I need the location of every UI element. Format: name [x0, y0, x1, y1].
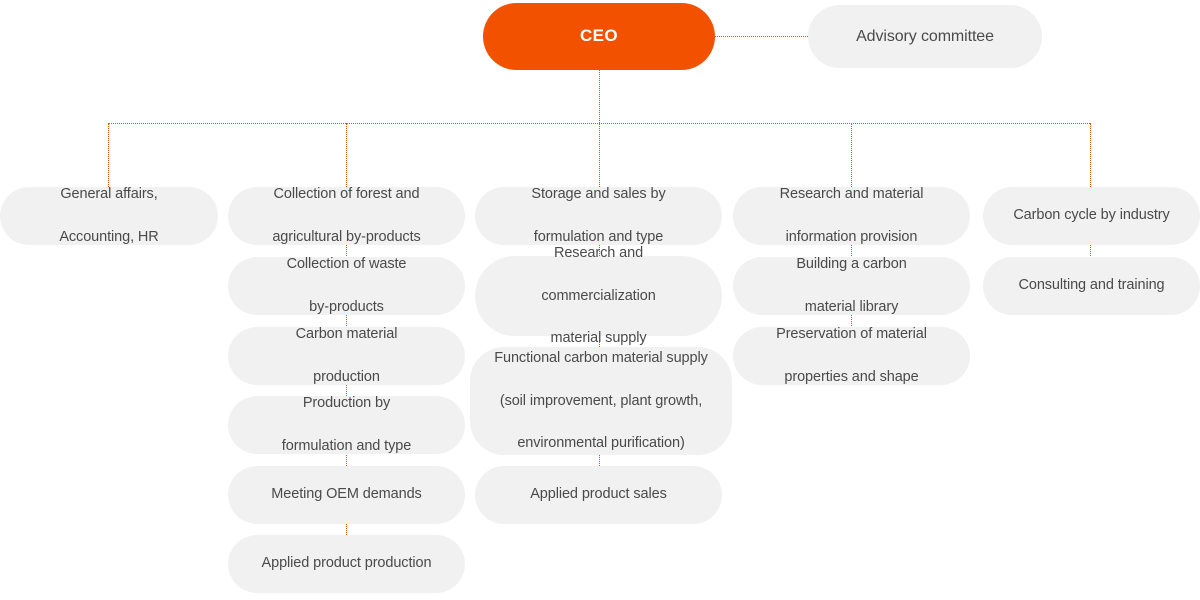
node-label: Carbon material production: [238, 324, 455, 387]
node-collection-forest-agricultural-byproducts[interactable]: Collection of forest and agricultural by…: [228, 187, 465, 245]
connector-drop-col3: [599, 123, 600, 187]
node-general-affairs-accounting-hr[interactable]: General affairs, Accounting, HR: [0, 187, 218, 245]
node-collection-waste-byproducts[interactable]: Collection of waste by-products: [228, 257, 465, 315]
connector-drop-col2: [346, 123, 347, 187]
node-preservation-material-properties-shape[interactable]: Preservation of material properties and …: [733, 327, 970, 385]
node-ceo[interactable]: CEO: [483, 3, 715, 70]
node-consulting-and-training[interactable]: Consulting and training: [983, 257, 1200, 315]
node-building-carbon-material-library[interactable]: Building a carbon material library: [733, 257, 970, 315]
node-label: Research and commercialization material …: [485, 243, 712, 348]
connector-ceo-advisory: [715, 36, 808, 37]
connector-drop-col5: [1090, 123, 1091, 187]
node-label: Collection of forest and agricultural by…: [238, 184, 455, 247]
node-label: General affairs, Accounting, HR: [10, 184, 208, 247]
node-label: Preservation of material properties and …: [743, 324, 960, 387]
node-label: Applied product sales: [485, 484, 712, 505]
connector-bus: [108, 123, 1090, 124]
node-advisory-committee[interactable]: Advisory committee: [808, 5, 1042, 68]
node-label: Research and material information provis…: [743, 184, 960, 247]
connector-drop-col4: [851, 123, 852, 187]
org-chart: CEO Advisory committee General affairs, …: [0, 0, 1200, 600]
node-ceo-label: CEO: [493, 24, 705, 49]
node-storage-sales-by-formulation-and-type[interactable]: Storage and sales by formulation and typ…: [475, 187, 722, 245]
node-production-by-formulation-and-type[interactable]: Production by formulation and type: [228, 396, 465, 454]
node-label: Production by formulation and type: [238, 393, 455, 456]
node-applied-product-production[interactable]: Applied product production: [228, 535, 465, 593]
node-research-material-information-provision[interactable]: Research and material information provis…: [733, 187, 970, 245]
connector-ceo-trunk: [599, 70, 600, 123]
node-label: Meeting OEM demands: [238, 484, 455, 505]
node-label: Applied product production: [238, 553, 455, 574]
node-label: Carbon cycle by industry: [993, 205, 1190, 226]
node-research-commercialization-material-supply[interactable]: Research and commercialization material …: [475, 256, 722, 336]
connector-drop-col1: [108, 123, 109, 187]
node-applied-product-sales[interactable]: Applied product sales: [475, 466, 722, 524]
node-functional-carbon-material-supply[interactable]: Functional carbon material supply (soil …: [470, 347, 732, 455]
connector-stub-col3-3: [599, 455, 600, 466]
connector-stub-col2-5: [346, 524, 347, 535]
node-advisory-committee-label: Advisory committee: [818, 25, 1032, 48]
node-carbon-cycle-by-industry[interactable]: Carbon cycle by industry: [983, 187, 1200, 245]
node-meeting-oem-demands[interactable]: Meeting OEM demands: [228, 466, 465, 524]
node-label: Collection of waste by-products: [238, 254, 455, 317]
node-carbon-material-production[interactable]: Carbon material production: [228, 327, 465, 385]
connector-stub-col2-4: [346, 455, 347, 466]
node-label: Building a carbon material library: [743, 254, 960, 317]
node-label: Consulting and training: [993, 275, 1190, 296]
connector-stub-col5-1: [1090, 245, 1091, 256]
node-label: Storage and sales by formulation and typ…: [485, 184, 712, 247]
node-label: Functional carbon material supply (soil …: [480, 348, 722, 453]
